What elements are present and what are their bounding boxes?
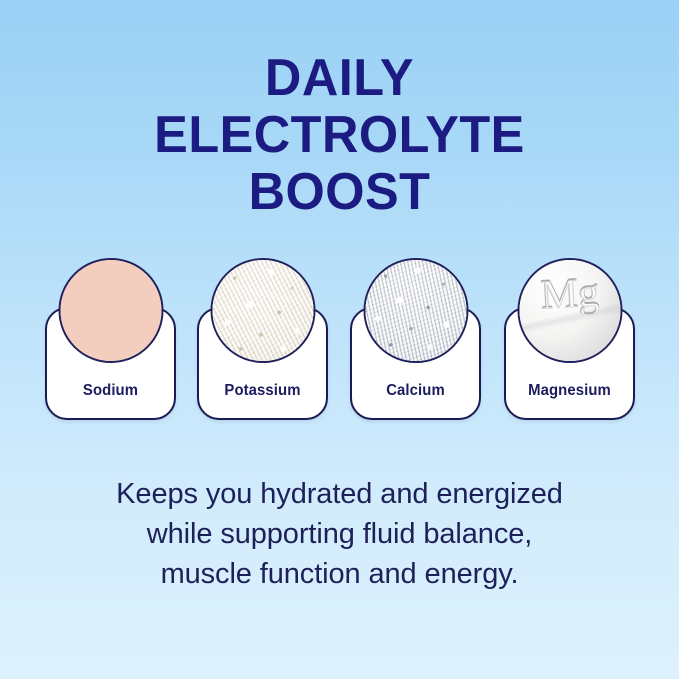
page-title-line-1: DAILY (10, 50, 669, 107)
page-title: DAILY ELECTROLYTE BOOST (10, 50, 669, 221)
calcium-powder-image (363, 258, 468, 363)
tablet-texture (519, 260, 620, 361)
salt-texture (60, 260, 161, 361)
ingredient-label: Calcium (355, 382, 477, 400)
page-title-line-2: ELECTROLYTE (10, 107, 669, 164)
ingredient-card-potassium[interactable]: Potassium (197, 258, 328, 420)
tagline-line-2: while supporting fluid balance, (0, 514, 679, 554)
magnesium-tablet-image: Mg (517, 258, 622, 363)
sodium-salt-image (58, 258, 163, 363)
tagline-line-1: Keeps you hydrated and energized (0, 474, 679, 514)
ingredient-card-sodium[interactable]: Sodium (45, 258, 176, 420)
powder-texture (365, 260, 466, 361)
ingredient-label: Sodium (50, 382, 172, 400)
ingredient-card-row: Sodium Potassium Calcium Magnesium Mg (45, 258, 635, 420)
ingredient-label: Magnesium (509, 382, 631, 400)
ingredient-card-magnesium[interactable]: Magnesium Mg (504, 258, 635, 420)
potassium-powder-image (210, 258, 315, 363)
page-title-line-3: BOOST (10, 164, 669, 221)
ingredient-card-calcium[interactable]: Calcium (350, 258, 481, 420)
tagline-line-3: muscle function and energy. (0, 554, 679, 594)
powder-texture (212, 260, 313, 361)
ingredient-label: Potassium (202, 382, 324, 400)
tagline: Keeps you hydrated and energized while s… (0, 474, 679, 594)
